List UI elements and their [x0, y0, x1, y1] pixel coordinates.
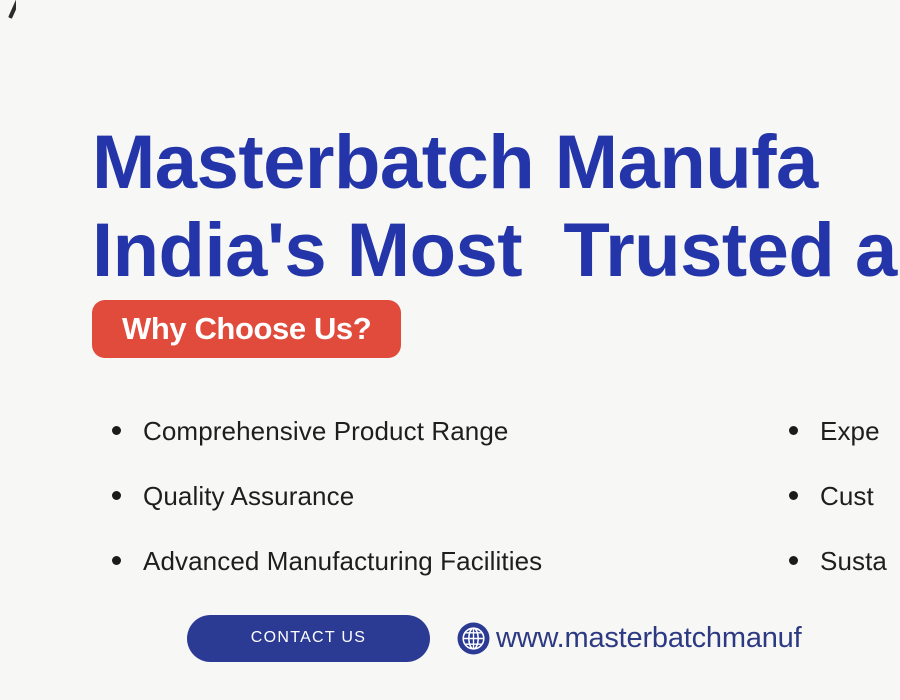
- corner-artifact-stroke: [8, 0, 16, 19]
- page-title: Masterbatch Manufa India's Most Trusted …: [92, 119, 900, 295]
- website-url-text: www.masterbatchmanuf: [496, 622, 801, 655]
- feature-list-left: Comprehensive Product Range Quality Assu…: [112, 398, 542, 593]
- page-title-line-2: India's Most Trusted a: [92, 207, 900, 295]
- feature-label: Advanced Manufacturing Facilities: [143, 546, 542, 576]
- why-choose-us-badge-label: Why Choose Us?: [122, 311, 371, 347]
- feature-label: Quality Assurance: [143, 481, 354, 511]
- list-item: Cust: [789, 463, 887, 528]
- globe-icon: [457, 622, 490, 655]
- website-link[interactable]: www.masterbatchmanuf: [457, 622, 801, 655]
- feature-label: Expe: [820, 416, 880, 446]
- list-item: Advanced Manufacturing Facilities: [112, 528, 542, 593]
- bullet-icon: [789, 491, 798, 500]
- list-item: Expe: [789, 398, 887, 463]
- feature-label: Cust: [820, 481, 874, 511]
- bullet-icon: [112, 556, 121, 565]
- footer-bar: CONTACT US www.masterbatchmanuf: [0, 612, 900, 664]
- bullet-icon: [789, 426, 798, 435]
- bullet-icon: [112, 491, 121, 500]
- bullet-icon: [112, 426, 121, 435]
- why-choose-us-badge: Why Choose Us?: [92, 300, 401, 358]
- list-item: Susta: [789, 528, 887, 593]
- bullet-icon: [789, 556, 798, 565]
- contact-us-button[interactable]: CONTACT US: [187, 615, 430, 662]
- list-item: Quality Assurance: [112, 463, 542, 528]
- feature-label: Comprehensive Product Range: [143, 416, 508, 446]
- feature-label: Susta: [820, 546, 887, 576]
- list-item: Comprehensive Product Range: [112, 398, 542, 463]
- feature-list-right: Expe Cust Susta: [789, 398, 887, 593]
- page-title-line-1: Masterbatch Manufa: [92, 119, 900, 207]
- corner-artifact: [2, 0, 16, 20]
- feature-lists: Comprehensive Product Range Quality Assu…: [0, 398, 900, 588]
